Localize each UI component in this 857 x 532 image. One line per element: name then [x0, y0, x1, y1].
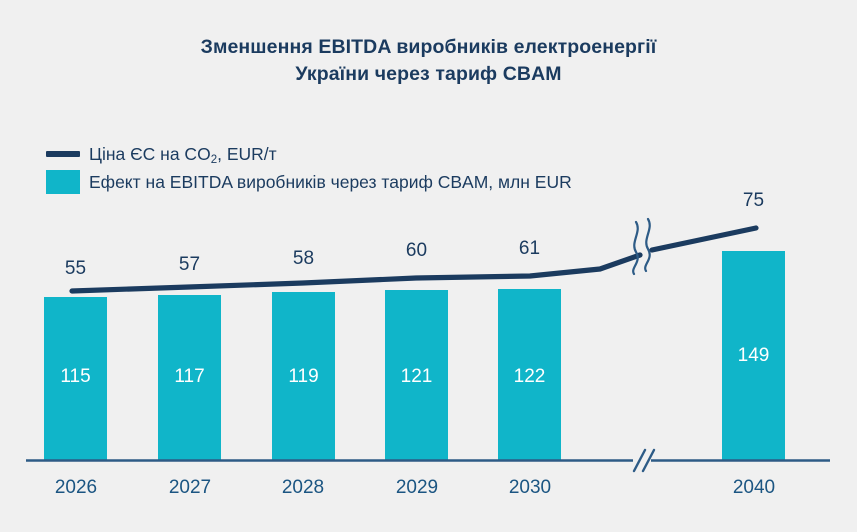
x-tick-2028: 2028	[263, 477, 343, 499]
line-value-2026: 55	[44, 258, 107, 280]
x-tick-2029: 2029	[377, 477, 457, 499]
x-tick-2030: 2030	[490, 477, 570, 499]
x-tick-2040: 2040	[714, 477, 794, 499]
bar-value-2029: 121	[385, 366, 448, 388]
bar-value-2028: 119	[272, 366, 335, 388]
line-value-2028: 58	[272, 248, 335, 270]
bar-value-2026: 115	[44, 366, 107, 388]
x-tick-2026: 2026	[36, 477, 116, 499]
bar-value-2040: 149	[722, 345, 785, 367]
line-value-2040: 75	[722, 190, 785, 212]
x-axis-break-icon	[634, 450, 654, 471]
line-value-2027: 57	[158, 254, 221, 276]
line-value-2030: 61	[498, 238, 561, 260]
trend-line-break-icon	[633, 219, 650, 274]
bar-value-2027: 117	[158, 366, 221, 388]
chart-root: Зменшення EBITDA виробників електроенерг…	[0, 0, 857, 532]
line-value-2029: 60	[385, 240, 448, 262]
x-tick-2027: 2027	[150, 477, 230, 499]
bar-value-2030: 122	[498, 366, 561, 388]
plot-area: 115 117 119 121 122 149 55 57 58 60 61 7…	[0, 0, 857, 532]
trend-line-co2-price-right	[652, 228, 756, 250]
